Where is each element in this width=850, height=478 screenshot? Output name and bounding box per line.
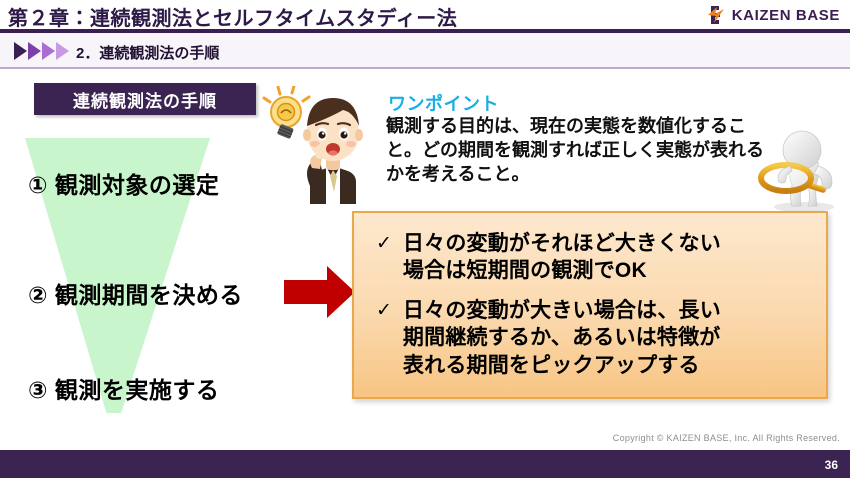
step-item-1: ① 観測対象の選定: [28, 166, 219, 200]
callout-bullet-1: ✓ 日々の変動がそれほど大きくない 場合は短期間の観測でOK: [376, 230, 721, 285]
brand-logo-text: KAIZEN BASE: [732, 7, 840, 24]
onepoint-body-text: 観測する目的は、現在の実態を数値化すること。どの期間を観測すれば正しく実態が表れ…: [386, 115, 768, 186]
slide-canvas: 第２章：連続観測法とセルフタイムスタディー法 KAIZEN BASE 2．連続観…: [0, 0, 850, 478]
triple-chevron-right-icon: [14, 42, 70, 60]
check-mark-icon: ✓: [376, 230, 392, 256]
red-right-arrow-icon: [284, 264, 356, 320]
subsection-title: 2．連続観測法の手順: [76, 42, 219, 63]
page-title: 第２章：連続観測法とセルフタイムスタディー法: [8, 2, 457, 31]
step-item-2: ② 観測期間を決める: [28, 276, 243, 310]
onepoint-heading: ワンポイント: [388, 90, 499, 116]
step-item-3: ③ 観測を実施する: [28, 371, 219, 405]
callout-bullet-2-text: 日々の変動が大きい場合は、長い 期間継続するか、あるいは特徴が 表れる期間をピッ…: [403, 297, 721, 379]
procedure-label-box: 連続観測法の手順: [34, 83, 256, 115]
kaizen-base-logo-mark-icon: [705, 4, 727, 26]
key-points-callout-box: ✓ 日々の変動がそれほど大きくない 場合は短期間の観測でOK ✓ 日々の変動が大…: [352, 211, 828, 399]
procedure-label-text: 連続観測法の手順: [73, 87, 217, 112]
footer-bar: [0, 450, 850, 478]
white-3d-figure-with-magnifying-glass-illustration: [758, 126, 850, 216]
callout-bullet-2: ✓ 日々の変動が大きい場合は、長い 期間継続するか、あるいは特徴が 表れる期間を…: [376, 297, 721, 379]
check-mark-icon: ✓: [376, 297, 392, 323]
brand-logo: KAIZEN BASE: [705, 4, 840, 26]
callout-bullet-1-text: 日々の変動がそれほど大きくない 場合は短期間の観測でOK: [403, 230, 721, 285]
businessman-pointing-with-lightbulb-illustration: [262, 86, 387, 204]
page-number: 36: [825, 458, 838, 472]
copyright-notice: Copyright © KAIZEN BASE, Inc. All Rights…: [613, 433, 840, 443]
